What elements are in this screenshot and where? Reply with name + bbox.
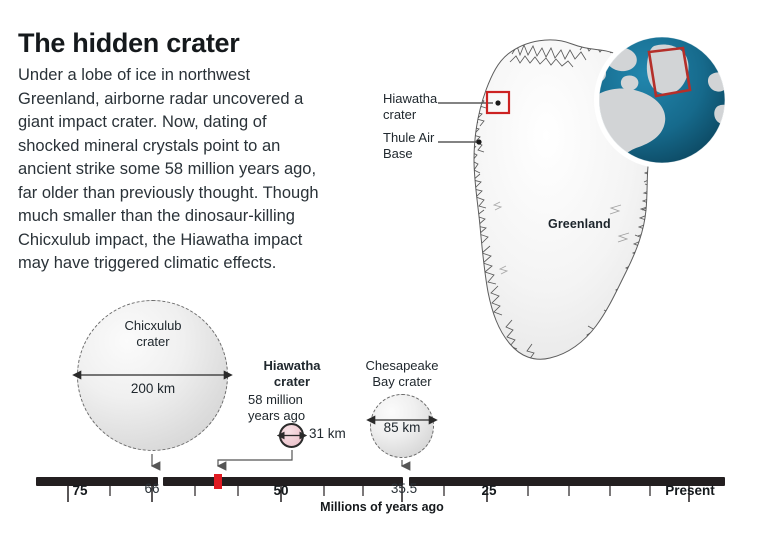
chesapeake-label-line2: Bay crater <box>352 374 452 390</box>
hiawatha-connector <box>218 450 292 466</box>
page-title: The hidden crater <box>18 28 239 59</box>
timeline-chart <box>0 424 764 490</box>
tick-label-25: 25 <box>481 483 496 498</box>
hiawatha-age-line2: years ago <box>248 408 336 424</box>
hiawatha-age-line1: 58 million <box>248 392 336 408</box>
tick-label-75: 75 <box>72 483 87 498</box>
chicxulub-diameter-label: 200 km <box>103 381 203 396</box>
annotation-thule-line1: Thule Air <box>383 130 434 146</box>
greenland-map: Greenland <box>440 14 764 366</box>
annotation-hiawatha-crater: Hiawatha crater <box>383 91 437 123</box>
annotation-thule-air-base: Thule Air Base <box>383 130 434 162</box>
annotation-hiawatha-line2: crater <box>383 107 437 123</box>
annotation-thule-line2: Base <box>383 146 434 162</box>
hiawatha-timeline-marker <box>214 474 222 489</box>
timeline-axis-title: Millions of years ago <box>0 500 764 514</box>
annotation-hiawatha-line1: Hiawatha <box>383 91 437 107</box>
intro-paragraph: Under a lobe of ice in northwest Greenla… <box>18 64 328 276</box>
infographic-root: The hidden crater Under a lobe of ice in… <box>0 0 764 542</box>
chesapeake-label-line1: Chesapeake <box>352 358 452 374</box>
greenland-map-svg <box>440 14 764 366</box>
hiawatha-label-line2: crater <box>248 374 336 390</box>
tick-label-present: Present <box>665 483 715 498</box>
hiawatha-age-label: 58 million years ago <box>248 392 336 424</box>
tick-label-35-5: 35.5 <box>391 481 417 496</box>
hiawatha-crater-label: Hiawatha crater <box>248 358 336 390</box>
tick-label-66: 66 <box>144 481 159 496</box>
timeline-bar <box>36 477 725 486</box>
chesapeake-crater-label: Chesapeake Bay crater <box>352 358 452 390</box>
hiawatha-label-line1: Hiawatha <box>248 358 336 374</box>
tick-label-50: 50 <box>273 483 288 498</box>
thule-map-marker <box>476 139 481 144</box>
map-region-label: Greenland <box>548 217 611 231</box>
